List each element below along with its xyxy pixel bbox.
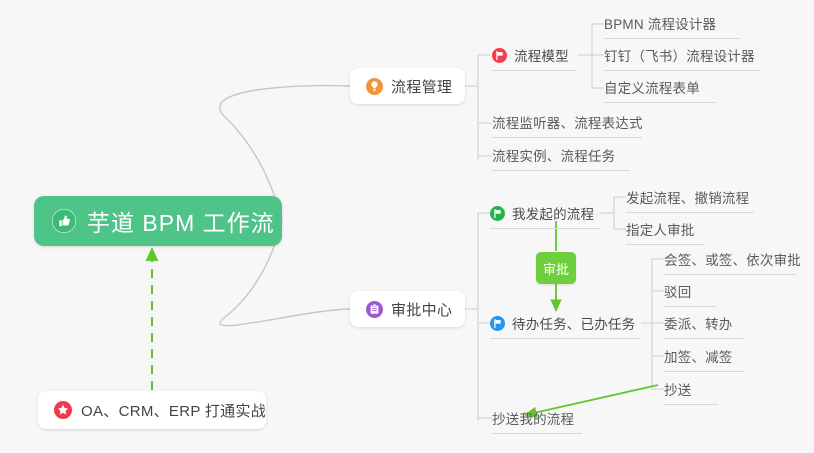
root-label: 芋道 BPM 工作流 xyxy=(87,204,275,238)
leaf-cc-to-me[interactable]: 抄送我的流程 xyxy=(492,408,582,434)
leaf-reject[interactable]: 驳回 xyxy=(664,281,716,307)
branch-approval-center[interactable]: 审批中心 xyxy=(350,291,465,327)
leaf-bpmn-designer[interactable]: BPMN 流程设计器 xyxy=(604,13,740,39)
leaf-assignee-approval[interactable]: 指定人审批 xyxy=(626,219,704,245)
mindmap-canvas: 芋道 BPM 工作流 流程管理 流程模型 BPMN 流程设计器 钉钉（飞书）流程… xyxy=(0,0,814,453)
node-label: 待办任务、已办任务 xyxy=(512,313,635,333)
branch-label: 流程管理 xyxy=(391,76,452,97)
flag-icon xyxy=(490,316,505,331)
node-label: 我发起的流程 xyxy=(512,203,594,223)
branch-label: 审批中心 xyxy=(391,299,452,320)
star-icon xyxy=(54,401,72,419)
thumbs-up-icon xyxy=(52,209,76,233)
branch-process-management[interactable]: 流程管理 xyxy=(350,68,465,104)
bottom-note-label: OA、CRM、ERP 打通实战 xyxy=(81,400,266,421)
bottom-note[interactable]: OA、CRM、ERP 打通实战 xyxy=(38,391,266,429)
clipboard-icon xyxy=(366,301,383,318)
root-node[interactable]: 芋道 BPM 工作流 xyxy=(34,196,282,246)
node-label: 流程模型 xyxy=(514,45,569,65)
flag-icon xyxy=(492,48,507,63)
node-process-model[interactable]: 流程模型 xyxy=(492,45,576,71)
leaf-process-listener[interactable]: 流程监听器、流程表达式 xyxy=(492,112,642,138)
leaf-start-cancel-process[interactable]: 发起流程、撤销流程 xyxy=(626,187,754,213)
leaf-delegate-transfer[interactable]: 委派、转办 xyxy=(664,313,744,339)
node-my-initiated[interactable]: 我发起的流程 xyxy=(490,203,600,229)
lightbulb-icon xyxy=(366,78,383,95)
leaf-add-remove-sign[interactable]: 加签、减签 xyxy=(664,346,744,372)
leaf-custom-form[interactable]: 自定义流程表单 xyxy=(604,77,716,103)
leaf-dingtalk-designer[interactable]: 钉钉（飞书）流程设计器 xyxy=(604,45,760,71)
flag-icon xyxy=(490,206,505,221)
leaf-cc[interactable]: 抄送 xyxy=(664,379,718,405)
approve-tag: 审批 xyxy=(536,252,576,284)
node-todo-done-tasks[interactable]: 待办任务、已办任务 xyxy=(490,313,641,339)
leaf-countersign[interactable]: 会签、或签、依次审批 xyxy=(664,249,796,275)
leaf-process-instance[interactable]: 流程实例、流程任务 xyxy=(492,145,630,171)
